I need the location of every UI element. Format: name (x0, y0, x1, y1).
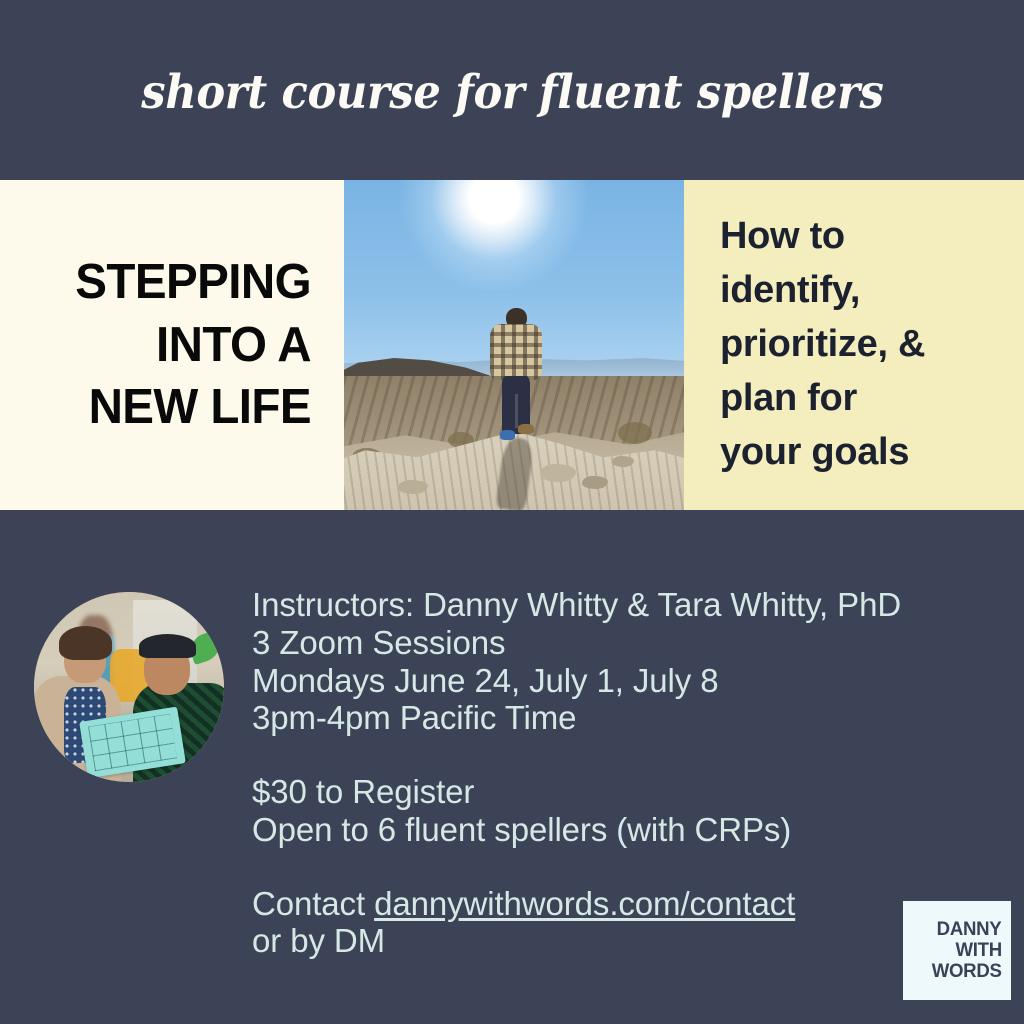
avatar-letterboard-grid (88, 713, 177, 771)
benefits-line-4: plan for (720, 372, 925, 426)
course-title-line-1: STEPPING (75, 251, 311, 314)
logo-line-1: DANNY (937, 919, 1002, 940)
benefits-line-1: How to (720, 210, 925, 264)
course-title: STEPPING INTO A NEW LIFE (75, 251, 311, 439)
price-line: $30 to Register (252, 773, 992, 811)
header-band: short course for fluent spellers (0, 0, 1024, 180)
time-line: 3pm-4pm Pacific Time (252, 699, 992, 737)
capacity-line: Open to 6 fluent spellers (with CRPs) (252, 811, 992, 849)
photo-person-leg-split (515, 394, 518, 428)
hero-photo (344, 180, 684, 510)
benefits-text: How to identify, prioritize, & plan for … (720, 210, 925, 480)
photo-walking-person (488, 308, 544, 450)
sessions-line: 3 Zoom Sessions (252, 624, 992, 662)
poster-canvas: short course for fluent spellers STEPPIN… (0, 0, 1024, 1024)
photo-rock (612, 456, 634, 467)
avatar-man-cap (139, 634, 196, 659)
course-details: Instructors: Danny Whitty & Tara Whitty,… (252, 586, 992, 960)
contact-line: Contact dannywithwords.com/contact (252, 885, 992, 923)
photo-bush (618, 422, 652, 444)
photo-person-shoe-left (500, 430, 515, 440)
benefits-panel: How to identify, prioritize, & plan for … (684, 180, 1024, 510)
brand-logo: DANNY WITH WORDS (903, 901, 1011, 1000)
benefits-line-3: prioritize, & (720, 318, 925, 372)
details-spacer (252, 737, 992, 773)
avatar-woman-hair (59, 626, 112, 660)
photo-rock (398, 480, 428, 494)
photo-rock (582, 476, 608, 489)
course-title-line-2: INTO A (75, 314, 311, 377)
course-tagline: short course for fluent spellers (141, 65, 883, 120)
details-spacer (252, 849, 992, 885)
title-panel: STEPPING INTO A NEW LIFE (0, 180, 344, 510)
logo-line-3: WORDS (931, 961, 1001, 982)
benefits-line-2: identify, (720, 264, 925, 318)
instructors-line: Instructors: Danny Whitty & Tara Whitty,… (252, 586, 992, 624)
instructors-avatar (34, 592, 224, 782)
photo-person-plaid-shirt (490, 324, 542, 380)
course-title-line-3: NEW LIFE (75, 376, 311, 439)
contact-label: Contact (252, 885, 374, 922)
contact-url-link[interactable]: dannywithwords.com/contact (374, 885, 795, 922)
logo-line-2: WITH (955, 940, 1001, 961)
benefits-line-5: your goals (720, 426, 925, 480)
photo-rock (540, 464, 576, 482)
photo-person-shoe-right (518, 424, 534, 434)
contact-alt-line: or by DM (252, 922, 992, 960)
feature-band: STEPPING INTO A NEW LIFE (0, 180, 1024, 510)
dates-line: Mondays June 24, July 1, July 8 (252, 662, 992, 700)
